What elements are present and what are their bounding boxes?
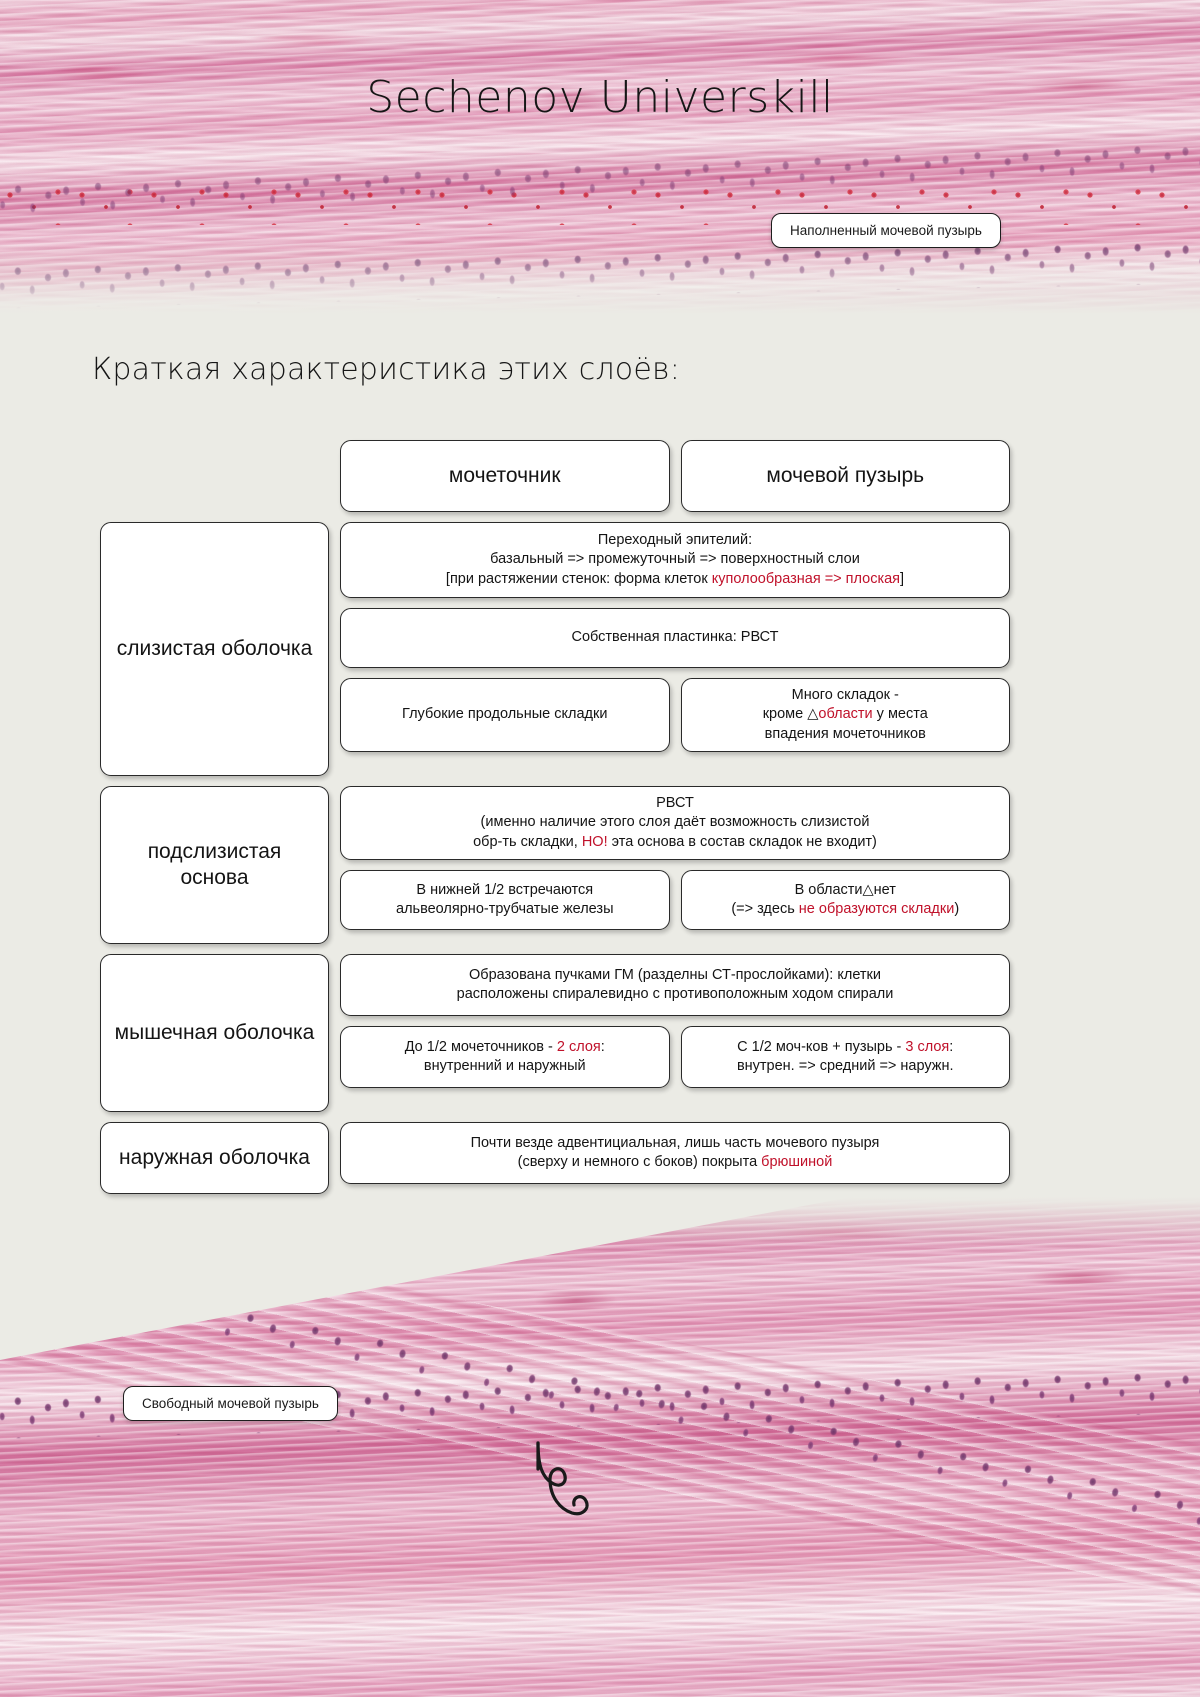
- caption-filled-bladder: Наполненный мочевой пузырь: [771, 213, 1001, 248]
- table-row: мышечная оболочка Образована пучками ГМ …: [100, 954, 1010, 1112]
- cell-adventitia: Почти везде адвентициальная, лишь часть …: [340, 1122, 1010, 1184]
- cell-epithelium: Переходный эпителий:базальный => промежу…: [340, 522, 1010, 598]
- row-label-adventitia: наружная оболочка: [100, 1122, 329, 1194]
- caption-empty-bladder: Свободный мочевой пузырь: [123, 1386, 338, 1421]
- cell-submucosa-rvst: РВСТ(именно наличие этого слоя даёт возм…: [340, 786, 1010, 860]
- cell-ureter-folds: Глубокие продольные складки: [340, 678, 670, 752]
- page-title: Sechenov Universkill: [0, 72, 1200, 123]
- cell-smooth-muscle: Образована пучками ГМ (разделны СТ-просл…: [340, 954, 1010, 1016]
- row-label-mucosa: слизистая оболочка: [100, 522, 329, 776]
- triangle-icon: △: [863, 882, 874, 898]
- comparison-table: мочеточник мочевой пузырь слизистая обол…: [100, 440, 1010, 1204]
- histology-photo-top: [0, 0, 1200, 330]
- column-header-ureter: мочеточник: [340, 440, 670, 512]
- triangle-icon: △: [807, 706, 818, 722]
- table-row: наружная оболочка Почти везде адвентициа…: [100, 1122, 1010, 1194]
- photo-fade-bottom: [0, 240, 1200, 330]
- table-row: подслизистая основа РВСТ(именно наличие …: [100, 786, 1010, 944]
- table-header-row: мочеточник мочевой пузырь: [340, 440, 1010, 512]
- cell-bladder-trigone: В области△нет(=> здесь не образуются скл…: [681, 870, 1011, 930]
- sechenov-monogram-icon: [520, 1435, 600, 1525]
- section-heading: Краткая характеристика этих слоёв:: [92, 352, 680, 387]
- cell-ureter-glands: В нижней 1/2 встречаютсяальвеолярно-труб…: [340, 870, 670, 930]
- cell-ureter-two-layers: До 1/2 мочеточников - 2 слоя:внутренний …: [340, 1026, 670, 1088]
- cell-lamina-propria: Собственная пластинка: РВСТ: [340, 608, 1010, 668]
- cell-bladder-three-layers: С 1/2 моч-ков + пузырь - 3 слоя:внутрен.…: [681, 1026, 1011, 1088]
- column-header-bladder: мочевой пузырь: [681, 440, 1011, 512]
- table-row: слизистая оболочка Переходный эпителий:б…: [100, 522, 1010, 776]
- row-label-submucosa: подслизистая основа: [100, 786, 329, 944]
- row-label-muscularis: мышечная оболочка: [100, 954, 329, 1112]
- cell-bladder-folds: Много складок -кроме △области у меставпа…: [681, 678, 1011, 752]
